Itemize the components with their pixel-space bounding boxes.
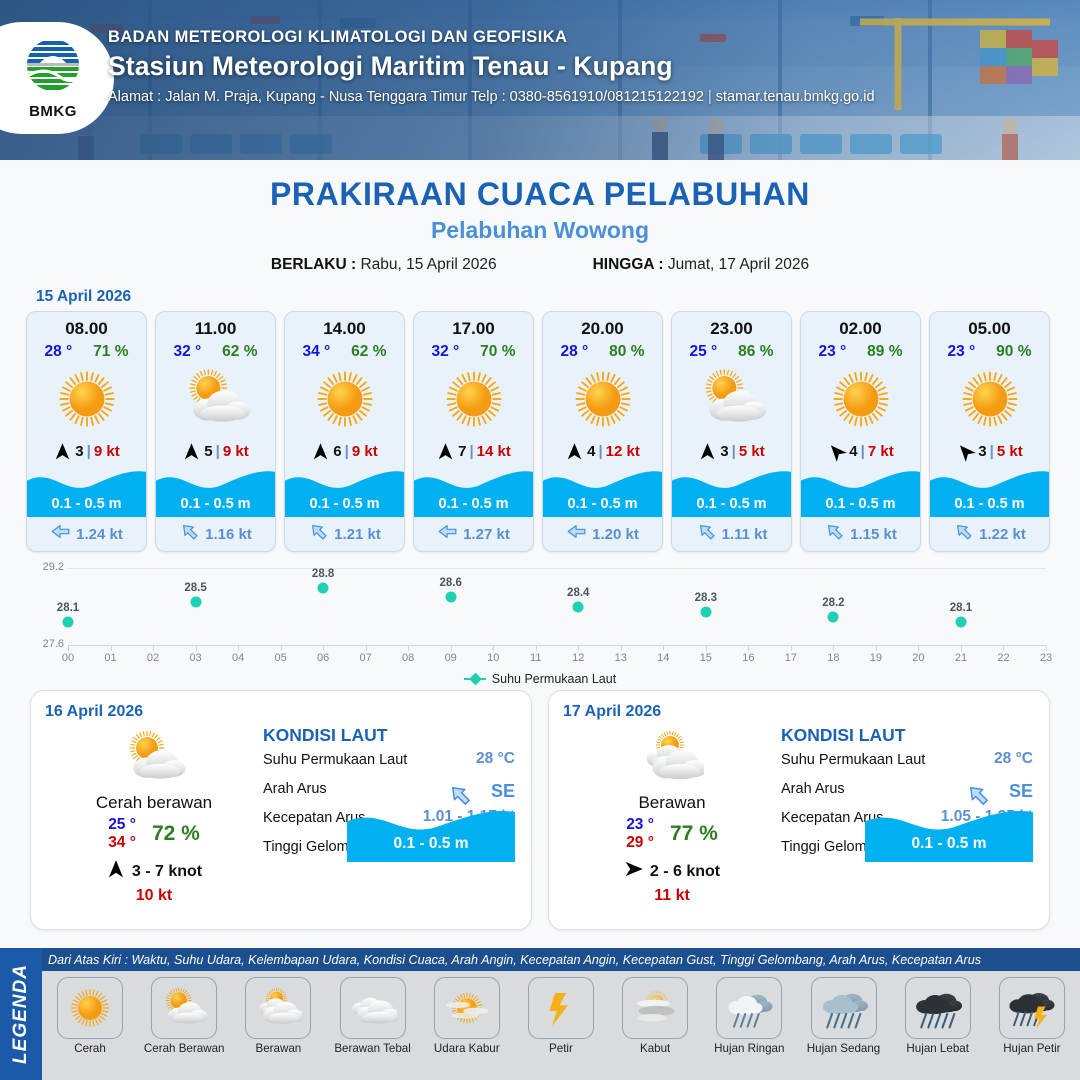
chart-x-tick-label: 10 — [487, 652, 499, 664]
sea-condition-value: SE — [491, 781, 515, 802]
legend-overcast-icon — [340, 977, 406, 1039]
wind-separator: | — [345, 443, 349, 460]
hourly-forecast-card[interactable]: 14.00 34 ° 62 % 6 | 9 kt 0.1 - 0.5 m — [284, 311, 405, 552]
sea-condition-row: Suhu Permukaan Laut 28 °C — [263, 751, 517, 780]
wind-separator: | — [861, 443, 865, 460]
card-wind-direction: 7 — [458, 443, 466, 460]
legend-item: Kabut — [611, 977, 699, 1055]
hourly-forecast-card[interactable]: 08.00 28 ° 71 % 3 | 9 kt 0.1 - 0.5 m — [26, 311, 147, 552]
hourly-forecast-card[interactable]: 23.00 25 ° 86 % 3 | 5 kt — [671, 311, 792, 552]
chart-x-tick — [663, 646, 664, 651]
card-current-row: 1.11 kt — [672, 517, 791, 551]
card-wave-block: 0.1 - 0.5 m — [930, 465, 1049, 517]
legend-item-label: Kabut — [611, 1042, 699, 1055]
chart-x-tick-label: 07 — [360, 652, 372, 664]
header-text-block: BADAN METEOROLOGI KLIMATOLOGI DAN GEOFIS… — [108, 28, 875, 105]
chart-x-tick-label: 08 — [402, 652, 414, 664]
legend-item-label: Hujan Sedang — [800, 1042, 888, 1055]
card-weather-partly-cloudy-icon — [672, 361, 791, 437]
card-humidity: 71 % — [93, 343, 128, 361]
legend-sunny-icon — [57, 977, 123, 1039]
chart-data-point — [190, 597, 201, 608]
sea-condition-label: Arah Arus — [781, 781, 845, 797]
daily-weather-cloudy-icon — [567, 725, 777, 791]
wind-separator: | — [216, 443, 220, 460]
chart-data-point — [318, 582, 329, 593]
card-wind-direction: 4 — [849, 443, 857, 460]
card-wind-row: 4 | 7 kt — [801, 437, 920, 465]
legend-footer: LEGENDA Dari Atas Kiri : Waktu, Suhu Uda… — [0, 948, 1080, 1080]
card-current-row: 1.22 kt — [930, 517, 1049, 551]
chart-point-label: 28.3 — [695, 592, 717, 604]
daily-temps-row: 23 ° 29 ° 77 % — [567, 816, 777, 852]
legend-partly-cloudy-icon — [151, 977, 217, 1039]
sea-condition-value: 28 °C — [994, 750, 1033, 768]
legend-haze-icon — [434, 977, 500, 1039]
card-time: 02.00 — [801, 312, 920, 339]
chart-y-tick-label: 27.6 — [22, 638, 64, 650]
card-humidity: 70 % — [480, 343, 515, 361]
card-wind-speed: 7 kt — [868, 443, 894, 460]
daily-wind-speed: 3 - 7 knot — [132, 863, 202, 881]
card-current-row: 1.24 kt — [27, 517, 146, 551]
card-wind-speed: 5 kt — [997, 443, 1023, 460]
hourly-forecast-card[interactable]: 05.00 23 ° 90 % 3 | 5 kt 0.1 - 0.5 m — [929, 311, 1050, 552]
card-wave-block: 0.1 - 0.5 m — [672, 465, 791, 517]
card-temp-humidity: 23 ° 90 % — [930, 339, 1049, 361]
chart-point-label: 28.6 — [439, 577, 461, 589]
valid-until-value: Jumat, 17 April 2026 — [668, 256, 809, 273]
chart-point-label: 28.4 — [567, 587, 589, 599]
card-humidity: 80 % — [609, 343, 644, 361]
card-temp-humidity: 34 ° 62 % — [285, 339, 404, 361]
legend-side-label: LEGENDA — [10, 964, 32, 1064]
daily-wave-block: 0.1 - 0.5 m — [865, 804, 1033, 862]
card-current-speed: 1.24 kt — [76, 526, 123, 543]
card-wind-speed: 5 kt — [739, 443, 765, 460]
card-current-row: 1.20 kt — [543, 517, 662, 551]
card-wave-block: 0.1 - 0.5 m — [414, 465, 533, 517]
chart-x-tick-label: 22 — [997, 652, 1009, 664]
sea-condition-value: 28 °C — [476, 750, 515, 768]
wind-direction-arrow-icon — [311, 442, 330, 461]
sea-condition-label: Suhu Permukaan Laut — [263, 752, 407, 768]
address-text: Alamat : Jalan M. Praja, Kupang - Nusa T… — [108, 89, 704, 105]
card-wind-row: 7 | 14 kt — [414, 437, 533, 465]
card-wind-speed: 9 kt — [352, 443, 378, 460]
legend-item-label: Berawan Tebal — [329, 1042, 417, 1055]
chart-x-tick — [366, 646, 367, 651]
daily-left-column: Berawan 23 ° 29 ° 77 % 2 - 6 knot 11 kt — [567, 725, 777, 905]
card-weather-sunny-icon — [285, 361, 404, 437]
wind-separator: | — [469, 443, 473, 460]
daily-wind-row: 2 - 6 knot — [567, 859, 777, 884]
card-temp-humidity: 23 ° 89 % — [801, 339, 920, 361]
legend-item: Hujan Sedang — [800, 977, 888, 1055]
chart-point-label: 28.5 — [184, 582, 206, 594]
daily-wind-speed: 2 - 6 knot — [650, 863, 720, 881]
valid-from-label: BERLAKU : — [271, 256, 356, 273]
chart-x-tick — [323, 646, 324, 651]
chart-x-tick-label: 02 — [147, 652, 159, 664]
valid-until-label: HINGGA : — [593, 256, 664, 273]
page-title: PRAKIRAAN CUACA PELABUHAN — [0, 176, 1080, 213]
valid-from-value: Rabu, 15 April 2026 — [360, 256, 496, 273]
daily-forecast-row: 16 April 2026 Cerah berawan 25 ° 34 ° — [0, 680, 1080, 930]
card-current-speed: 1.16 kt — [205, 526, 252, 543]
hourly-forecast-row: 08.00 28 ° 71 % 3 | 9 kt 0.1 - 0.5 m — [0, 311, 1080, 552]
card-wind-direction: 3 — [720, 443, 728, 460]
card-wind-row: 3 | 5 kt — [930, 437, 1049, 465]
legend-item-label: Petir — [517, 1042, 605, 1055]
card-current-row: 1.21 kt — [285, 517, 404, 551]
current-direction-arrow-icon — [437, 521, 458, 547]
card-current-speed: 1.27 kt — [463, 526, 510, 543]
card-temperature: 28 ° — [560, 343, 588, 361]
chart-x-tick — [281, 646, 282, 651]
card-temperature: 25 ° — [689, 343, 717, 361]
sea-condition-label: Arah Arus — [263, 781, 327, 797]
daily-forecast-panel[interactable]: 17 April 2026 Berawan 23 ° 29 — [548, 690, 1050, 930]
chart-x-tick — [408, 646, 409, 651]
chart-x-tick — [451, 646, 452, 651]
sst-chart-xaxis: 0001020304050607080910111213141516171819… — [68, 646, 1046, 668]
daily-wave-block: 0.1 - 0.5 m — [347, 804, 515, 862]
forecast-title-block: PRAKIRAAN CUACA PELABUHAN Pelabuhan Wowo… — [0, 160, 1080, 274]
chart-x-tick — [961, 646, 962, 651]
daily-humidity: 77 % — [670, 822, 718, 846]
legend-item: Hujan Ringan — [705, 977, 793, 1055]
legend-item: Hujan Lebat — [894, 977, 982, 1055]
current-direction-arrow-icon — [696, 521, 717, 547]
chart-data-point — [445, 592, 456, 603]
card-weather-sunny-icon — [27, 361, 146, 437]
legend-caption: Dari Atas Kiri : Waktu, Suhu Udara, Kele… — [42, 948, 1080, 971]
station-name: Stasiun Meteorologi Maritim Tenau - Kupa… — [108, 51, 875, 82]
chart-x-tick-label: 19 — [870, 652, 882, 664]
card-wind-speed: 9 kt — [223, 443, 249, 460]
card-wind-row: 5 | 9 kt — [156, 437, 275, 465]
card-wind-row: 3 | 5 kt — [672, 437, 791, 465]
card-wind-direction: 6 — [333, 443, 341, 460]
chart-x-tick — [111, 646, 112, 651]
sea-conditions-title: KONDISI LAUT — [263, 725, 517, 746]
card-humidity: 62 % — [351, 343, 386, 361]
chart-x-tick — [153, 646, 154, 651]
card-temp-humidity: 32 ° 70 % — [414, 339, 533, 361]
card-wave-height: 0.1 - 0.5 m — [414, 496, 533, 512]
wind-separator: | — [87, 443, 91, 460]
card-weather-partly-cloudy-icon — [156, 361, 275, 437]
daily-temp-max: 29 ° — [626, 834, 654, 852]
hourly-forecast-card[interactable]: 17.00 32 ° 70 % 7 | 14 kt 0.1 - 0.5 m — [413, 311, 534, 552]
card-temp-humidity: 25 ° 86 % — [672, 339, 791, 361]
card-time: 08.00 — [27, 312, 146, 339]
chart-x-tick — [748, 646, 749, 651]
card-temperature: 23 ° — [947, 343, 975, 361]
legend-items-row: Cerah Cerah Berawan — [42, 971, 1080, 1080]
chart-data-point — [828, 611, 839, 622]
chart-x-tick-label: 11 — [530, 652, 541, 664]
card-current-row: 1.27 kt — [414, 517, 533, 551]
card-wind-speed: 9 kt — [94, 443, 120, 460]
chart-data-point — [700, 606, 711, 617]
card-wind-direction: 5 — [204, 443, 212, 460]
wind-direction-arrow-icon — [106, 859, 126, 884]
daily-humidity: 72 % — [152, 822, 200, 846]
wind-direction-arrow-icon — [624, 859, 644, 884]
chart-data-point — [955, 616, 966, 627]
card-temperature: 32 ° — [173, 343, 201, 361]
daily-wind-row: 3 - 7 knot — [49, 859, 259, 884]
card-wind-row: 6 | 9 kt — [285, 437, 404, 465]
legend-fog-icon — [622, 977, 688, 1039]
sst-chart: 29.227.628.128.528.828.628.428.328.228.1… — [20, 568, 1060, 680]
legend-item: Cerah — [46, 977, 134, 1055]
chart-x-tick-label: 03 — [189, 652, 201, 664]
chart-x-tick — [238, 646, 239, 651]
card-time: 14.00 — [285, 312, 404, 339]
daily-temps-row: 25 ° 34 ° 72 % — [49, 816, 259, 852]
daily-temp-min: 25 ° — [108, 816, 136, 834]
chart-x-tick — [196, 646, 197, 651]
card-current-speed: 1.11 kt — [722, 526, 768, 543]
chart-data-point — [573, 602, 584, 613]
card-wave-height: 0.1 - 0.5 m — [930, 496, 1049, 512]
card-humidity: 62 % — [222, 343, 257, 361]
chart-x-tick — [493, 646, 494, 651]
address-separator: | — [704, 89, 716, 105]
chart-x-tick-label: 05 — [274, 652, 286, 664]
current-direction-arrow-icon — [179, 521, 200, 547]
legend-item-label: Cerah — [46, 1042, 134, 1055]
wind-direction-arrow-icon — [827, 442, 846, 461]
legend-item-label: Udara Kabur — [423, 1042, 511, 1055]
card-time: 05.00 — [930, 312, 1049, 339]
card-wave-block: 0.1 - 0.5 m — [156, 465, 275, 517]
hourly-date-label: 15 April 2026 — [36, 288, 1080, 306]
card-current-speed: 1.20 kt — [592, 526, 639, 543]
wind-direction-arrow-icon — [53, 442, 72, 461]
card-temperature: 32 ° — [431, 343, 459, 361]
station-address: Alamat : Jalan M. Praja, Kupang - Nusa T… — [108, 89, 875, 105]
chart-x-tick-label: 15 — [700, 652, 712, 664]
card-wave-block: 0.1 - 0.5 m — [285, 465, 404, 517]
card-current-row: 1.16 kt — [156, 517, 275, 551]
chart-x-tick-label: 16 — [742, 652, 754, 664]
agency-name: BADAN METEOROLOGI KLIMATOLOGI DAN GEOFIS… — [108, 28, 875, 47]
chart-x-tick-label: 23 — [1040, 652, 1052, 664]
card-wave-height: 0.1 - 0.5 m — [801, 496, 920, 512]
chart-x-tick — [621, 646, 622, 651]
daily-condition: Berawan — [567, 793, 777, 813]
card-time: 11.00 — [156, 312, 275, 339]
daily-wave-height: 0.1 - 0.5 m — [865, 835, 1033, 853]
card-temp-humidity: 28 ° 80 % — [543, 339, 662, 361]
chart-x-tick-label: 00 — [62, 652, 74, 664]
chart-x-tick — [791, 646, 792, 651]
legend-item: Hujan Petir — [988, 977, 1076, 1055]
daily-date: 16 April 2026 — [45, 703, 517, 721]
legend-item-label: Hujan Lebat — [894, 1042, 982, 1055]
wind-direction-arrow-icon — [956, 442, 975, 461]
legend-moderate-rain-icon — [811, 977, 877, 1039]
hourly-forecast-card[interactable]: 11.00 32 ° 62 % 5 | 9 kt — [155, 311, 276, 552]
sst-chart-legend: Suhu Permukaan Laut — [20, 672, 1060, 686]
chart-x-tick-label: 14 — [657, 652, 669, 664]
card-time: 17.00 — [414, 312, 533, 339]
legend-lightning-icon — [528, 977, 594, 1039]
chart-x-tick — [876, 646, 877, 651]
card-wave-height: 0.1 - 0.5 m — [156, 496, 275, 512]
wind-separator: | — [990, 443, 994, 460]
chart-x-tick-label: 01 — [104, 652, 116, 664]
legend-item-label: Hujan Ringan — [705, 1042, 793, 1055]
current-direction-arrow-icon — [953, 521, 974, 547]
chart-x-tick-label: 21 — [955, 652, 967, 664]
daily-temp-max: 34 ° — [108, 834, 136, 852]
chart-x-tick-label: 06 — [317, 652, 329, 664]
card-humidity: 89 % — [867, 343, 902, 361]
legend-heavy-rain-icon — [905, 977, 971, 1039]
chart-y-tick-label: 29.2 — [22, 561, 64, 573]
hourly-forecast-card[interactable]: 20.00 28 ° 80 % 4 | 12 kt 0.1 - 0.5 m — [542, 311, 663, 552]
card-wave-block: 0.1 - 0.5 m — [27, 465, 146, 517]
card-time: 23.00 — [672, 312, 791, 339]
chart-x-tick — [1003, 646, 1004, 651]
chart-x-tick-label: 20 — [912, 652, 924, 664]
legend-thunderstorm-icon — [999, 977, 1065, 1039]
card-wave-height: 0.1 - 0.5 m — [672, 496, 791, 512]
card-time: 20.00 — [543, 312, 662, 339]
daily-gust-speed: 10 kt — [49, 887, 259, 905]
port-name: Pelabuhan Wowong — [0, 217, 1080, 244]
legend-item: Petir — [517, 977, 605, 1055]
legend-item-label: Hujan Petir — [988, 1042, 1076, 1055]
station-website: stamar.tenau.bmkg.go.id — [716, 89, 875, 105]
card-weather-sunny-icon — [930, 361, 1049, 437]
bmkg-logo: BMKG — [0, 22, 114, 134]
chart-x-tick — [833, 646, 834, 651]
chart-x-tick-label: 04 — [232, 652, 244, 664]
chart-x-tick-label: 09 — [445, 652, 457, 664]
hourly-forecast-card[interactable]: 02.00 23 ° 89 % 4 | 7 kt 0.1 - 0.5 m — [800, 311, 921, 552]
legend-body: Dari Atas Kiri : Waktu, Suhu Udara, Kele… — [42, 948, 1080, 1080]
card-wind-speed: 12 kt — [606, 443, 640, 460]
card-wave-height: 0.1 - 0.5 m — [27, 496, 146, 512]
bmkg-logo-text: BMKG — [22, 103, 84, 120]
card-wave-block: 0.1 - 0.5 m — [801, 465, 920, 517]
daily-left-column: Cerah berawan 25 ° 34 ° 72 % 3 - 7 knot … — [49, 725, 259, 905]
card-wind-direction: 4 — [587, 443, 595, 460]
daily-forecast-panel[interactable]: 16 April 2026 Cerah berawan 25 ° 34 ° — [30, 690, 532, 930]
card-current-speed: 1.15 kt — [850, 526, 897, 543]
wind-direction-arrow-icon — [436, 442, 455, 461]
chart-point-label: 28.1 — [57, 602, 79, 614]
card-temperature: 28 ° — [44, 343, 72, 361]
card-temperature: 23 ° — [818, 343, 846, 361]
chart-point-label: 28.2 — [822, 597, 844, 609]
legend-item-label: Cerah Berawan — [140, 1042, 228, 1055]
chart-x-tick — [536, 646, 537, 651]
chart-x-tick-label: 13 — [615, 652, 627, 664]
current-direction-arrow-icon — [308, 521, 329, 547]
wind-separator: | — [732, 443, 736, 460]
chart-point-label: 28.8 — [312, 568, 334, 580]
current-direction-arrow-icon — [566, 521, 587, 547]
chart-x-tick-label: 12 — [572, 652, 584, 664]
chart-gridline — [68, 568, 1046, 569]
card-current-row: 1.15 kt — [801, 517, 920, 551]
card-weather-sunny-icon — [414, 361, 533, 437]
card-temp-humidity: 32 ° 62 % — [156, 339, 275, 361]
sea-conditions-title: KONDISI LAUT — [781, 725, 1035, 746]
sea-condition-value: SE — [1009, 781, 1033, 802]
chart-x-tick — [1046, 646, 1047, 651]
daily-condition: Cerah berawan — [49, 793, 259, 813]
wind-separator: | — [598, 443, 602, 460]
legend-item: Cerah Berawan — [140, 977, 228, 1055]
validity-row: BERLAKU : Rabu, 15 April 2026 HINGGA : J… — [0, 256, 1080, 274]
valid-until: HINGGA : Jumat, 17 April 2026 — [593, 256, 810, 274]
card-humidity: 86 % — [738, 343, 773, 361]
legend-side-bar: LEGENDA — [0, 948, 42, 1080]
chart-x-tick — [918, 646, 919, 651]
card-current-speed: 1.21 kt — [334, 526, 381, 543]
card-humidity: 90 % — [996, 343, 1031, 361]
daily-sea-conditions: KONDISI LAUT Suhu Permukaan Laut 28 °C A… — [781, 725, 1035, 864]
card-wind-row: 3 | 9 kt — [27, 437, 146, 465]
page-header: BMKG BADAN METEOROLOGI KLIMATOLOGI DAN G… — [0, 0, 1080, 160]
legend-cloudy-icon — [245, 977, 311, 1039]
card-weather-sunny-icon — [801, 361, 920, 437]
daily-wave-height: 0.1 - 0.5 m — [347, 835, 515, 853]
legend-item: Udara Kabur — [423, 977, 511, 1055]
daily-sea-conditions: KONDISI LAUT Suhu Permukaan Laut 28 °C A… — [263, 725, 517, 864]
chart-x-tick-label: 18 — [827, 652, 839, 664]
card-wave-height: 0.1 - 0.5 m — [543, 496, 662, 512]
card-wave-block: 0.1 - 0.5 m — [543, 465, 662, 517]
daily-date: 17 April 2026 — [563, 703, 1035, 721]
sst-chart-plot: 29.227.628.128.528.828.628.428.328.228.1 — [68, 568, 1046, 646]
card-weather-sunny-icon — [543, 361, 662, 437]
chart-x-tick — [578, 646, 579, 651]
daily-gust-speed: 11 kt — [567, 887, 777, 905]
legend-item-label: Berawan — [234, 1042, 322, 1055]
legend-item: Berawan Tebal — [329, 977, 417, 1055]
daily-weather-partly-cloudy-icon — [49, 725, 259, 791]
bmkg-emblem-icon — [22, 37, 84, 97]
card-wind-direction: 3 — [978, 443, 986, 460]
chart-x-tick — [706, 646, 707, 651]
chart-x-tick-label: 17 — [785, 652, 797, 664]
daily-temp-min: 23 ° — [626, 816, 654, 834]
card-wind-direction: 3 — [75, 443, 83, 460]
sea-condition-label: Suhu Permukaan Laut — [781, 752, 925, 768]
sea-condition-row: Suhu Permukaan Laut 28 °C — [781, 751, 1035, 780]
series-marker-icon — [464, 673, 486, 685]
card-temperature: 34 ° — [302, 343, 330, 361]
series-label: Suhu Permukaan Laut — [492, 672, 616, 686]
card-wind-row: 4 | 12 kt — [543, 437, 662, 465]
card-temp-humidity: 28 ° 71 % — [27, 339, 146, 361]
wind-direction-arrow-icon — [698, 442, 717, 461]
chart-point-label: 28.1 — [950, 602, 972, 614]
legend-light-rain-icon — [716, 977, 782, 1039]
current-direction-arrow-icon — [50, 521, 71, 547]
card-wind-speed: 14 kt — [477, 443, 511, 460]
card-current-speed: 1.22 kt — [979, 526, 1026, 543]
